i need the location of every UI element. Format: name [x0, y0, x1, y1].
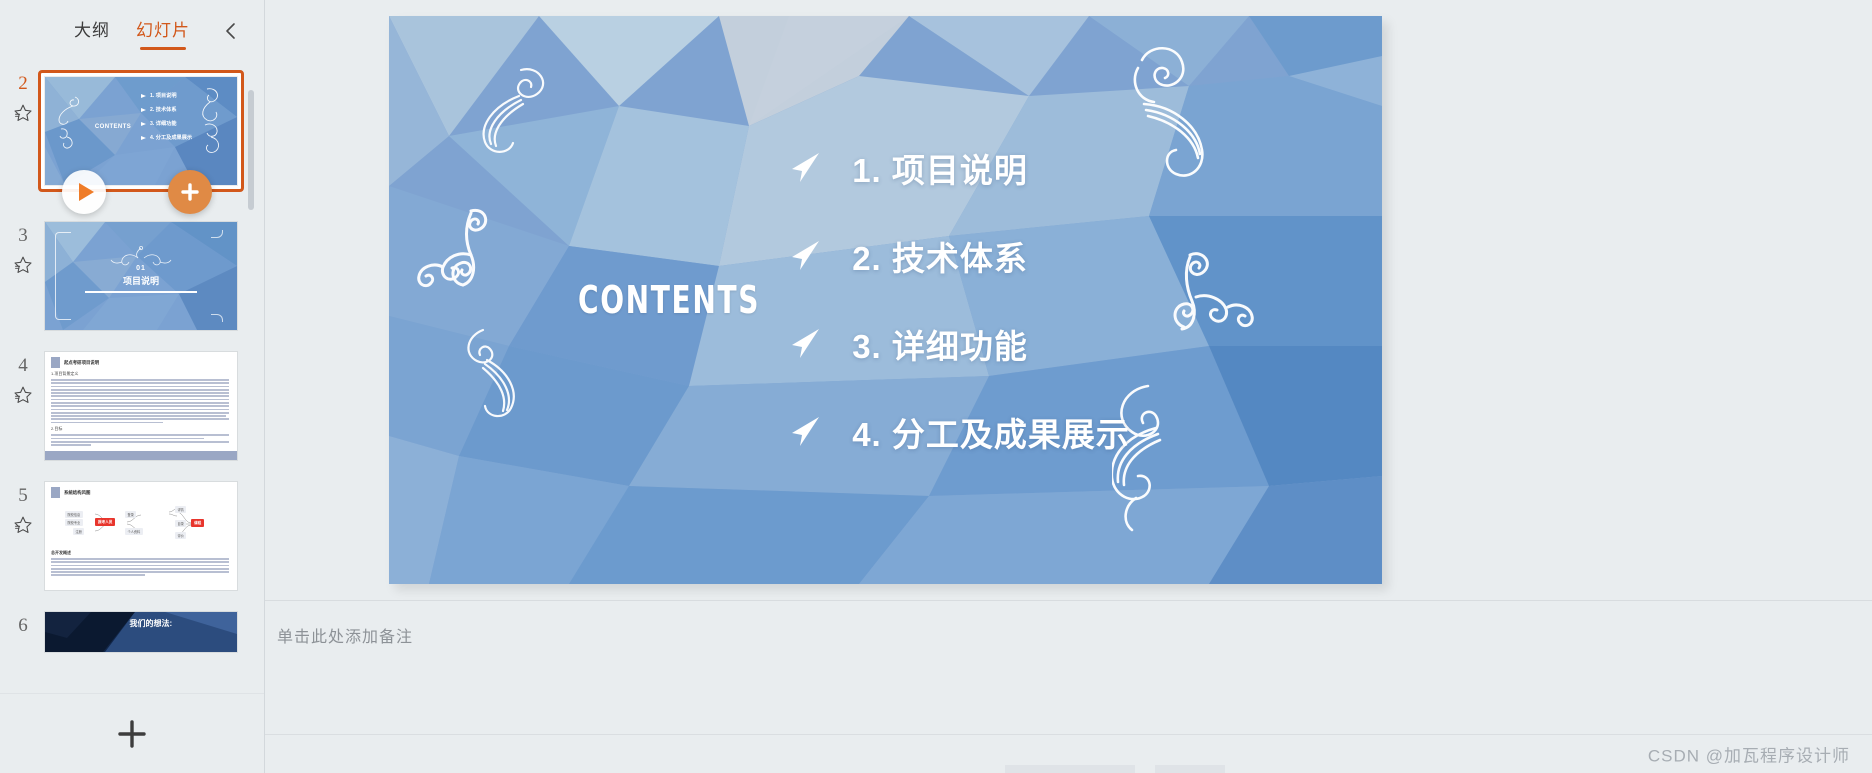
- slide-thumbnail-panel: 大纲 幻灯片 2: [0, 0, 265, 773]
- plus-icon: [114, 716, 150, 752]
- contents-item-2-text: 技术体系: [892, 240, 1028, 277]
- thumbnail-slide-6[interactable]: 6 我们的想法:: [0, 612, 264, 652]
- dark-slide-label: 我们的想法:: [129, 618, 172, 629]
- arrow-marker-icon: [141, 108, 146, 112]
- mindmap-leaf: 院校信息: [65, 511, 83, 518]
- doc-title: 起点考研项目说明: [64, 360, 99, 366]
- thumbnail-image: 起点考研项目说明 1.项目背景定义 2.目标: [45, 352, 237, 460]
- thumbnail-scroll-area[interactable]: 2: [0, 62, 264, 693]
- title-accent-block: [51, 487, 60, 498]
- star-icon[interactable]: [13, 385, 33, 405]
- contents-item-4[interactable]: 4. 分工及成果展示: [786, 408, 1130, 456]
- slide-editor-area: CONTENTS 1. 项目说明 2. 技术体系: [265, 0, 1872, 773]
- status-segment: [1005, 765, 1135, 773]
- thumbnail-image: CONTENTS 1. 项目说明 2. 技术体系 3. 详细功能 4. 分工及成…: [45, 77, 237, 185]
- slide-canvas[interactable]: CONTENTS 1. 项目说明 2. 技术体系: [389, 16, 1382, 584]
- thumbnail-slide-2[interactable]: 2: [0, 70, 264, 192]
- thumbnail-meta: 2: [8, 70, 38, 123]
- contents-item-3-index: 3.: [852, 328, 882, 365]
- add-slide-button[interactable]: [112, 714, 152, 754]
- tab-slides-label: 幻灯片: [136, 21, 190, 40]
- thumbnail-meta: 3: [8, 222, 38, 275]
- arrow-marker-icon: [141, 122, 146, 126]
- insert-slide-button[interactable]: [168, 170, 212, 214]
- divider: [85, 291, 196, 293]
- thumbnail-meta: 5: [8, 482, 38, 535]
- doc-section-2: 2.目标: [51, 426, 231, 432]
- arrow-marker-icon: [786, 150, 822, 186]
- star-icon[interactable]: [13, 515, 33, 535]
- play-slideshow-button[interactable]: [62, 170, 106, 214]
- decorative-corner: [211, 314, 223, 322]
- mindmap-diagram: 报考人员 课程 院校信息 院校专业 注册 登录 个人资料 详情 目录 评价: [51, 502, 231, 548]
- mindmap-leaf: 个人资料: [125, 528, 143, 535]
- contents-item-2-index: 2.: [852, 240, 882, 277]
- thumbnail-meta: 6: [8, 612, 38, 645]
- status-bar: CSDN @加瓦程序设计师: [265, 734, 1872, 773]
- star-icon[interactable]: [13, 103, 33, 123]
- thumb-contents-label: CONTENTS: [95, 124, 131, 130]
- thumbnail-image: 系统结构风图: [45, 482, 237, 590]
- doc-footer-band: [45, 451, 237, 460]
- document-slide-preview: 起点考研项目说明 1.项目背景定义 2.目标: [45, 352, 237, 460]
- thumbnail-slide-4[interactable]: 4 起点考研项目说明 1.项目背景定义: [0, 352, 264, 460]
- slide-number: 4: [18, 356, 28, 375]
- mindmap-node: 课程: [191, 519, 204, 527]
- watermark-text: CSDN @加瓦程序设计师: [1648, 742, 1850, 767]
- arrow-marker-icon: [141, 136, 146, 140]
- thumbnail-scrollbar[interactable]: [248, 90, 254, 210]
- doc-title-row: 系统结构风图: [51, 487, 231, 498]
- mindmap-leaf: 详情: [175, 506, 186, 513]
- ornament-left-icon: [51, 93, 85, 159]
- panel-tabs: 大纲 幻灯片: [0, 0, 264, 62]
- mindmap-leaf: 注册: [73, 528, 84, 535]
- thumb-item-3: 3. 详细功能: [150, 120, 177, 127]
- mindmap-leaf: 院校专业: [65, 519, 83, 526]
- slide-number: 5: [18, 486, 28, 505]
- title-accent-block: [51, 357, 60, 368]
- thumb-item-4: 4. 分工及成果展示: [150, 134, 192, 141]
- chevron-left-icon[interactable]: [220, 20, 242, 42]
- tab-slides[interactable]: 幻灯片: [136, 16, 190, 47]
- doc-body-lines: [51, 379, 231, 423]
- mindmap-leaf: 评价: [175, 532, 186, 539]
- star-icon[interactable]: [13, 255, 33, 275]
- thumbnail-image: 我们的想法:: [45, 612, 237, 652]
- doc-title-row: 起点考研项目说明: [51, 357, 231, 368]
- mindmap-node: 报考人员: [95, 518, 115, 526]
- thumbnail-slide-3[interactable]: 3: [0, 222, 264, 330]
- play-icon: [79, 183, 94, 201]
- slide-number: 3: [18, 226, 28, 245]
- thumbnail-meta: 4: [8, 352, 38, 405]
- slide-number: 2: [18, 74, 28, 93]
- plus-icon: [178, 180, 202, 204]
- presentation-editor: 大纲 幻灯片 2: [0, 0, 1872, 773]
- arrow-marker-icon: [786, 326, 822, 362]
- thumb-section-number: 01: [45, 265, 237, 272]
- contents-item-2[interactable]: 2. 技术体系: [786, 232, 1130, 280]
- thumbnail-image: 01 项目说明: [45, 222, 237, 330]
- contents-menu: 1. 项目说明 2. 技术体系 3. 详细功能: [786, 42, 1130, 558]
- mindmap-leaf: 登录: [125, 511, 136, 518]
- mindmap-leaf: 目录: [175, 520, 186, 527]
- thumb-section-block: 01 项目说明: [45, 265, 237, 293]
- doc-body-lines-2: [51, 434, 231, 446]
- thumb-item-1: 1. 项目说明: [150, 92, 177, 99]
- thumbnail-frame-selected[interactable]: CONTENTS 1. 项目说明 2. 技术体系 3. 详细功能 4. 分工及成…: [38, 70, 244, 192]
- slide-stage[interactable]: CONTENTS 1. 项目说明 2. 技术体系: [389, 16, 1382, 584]
- tab-outline[interactable]: 大纲: [74, 16, 110, 47]
- status-segment: [1155, 765, 1225, 773]
- contents-item-1[interactable]: 1. 项目说明: [786, 144, 1130, 192]
- mindmap-slide-preview: 系统结构风图: [45, 482, 237, 590]
- slide-number: 6: [18, 616, 28, 635]
- thumb-item-2: 2. 技术体系: [150, 106, 177, 113]
- contents-item-3-text: 详细功能: [892, 328, 1028, 365]
- ornament-right-icon: [193, 85, 233, 159]
- doc-body-lines: [51, 558, 231, 576]
- contents-item-4-index: 4.: [852, 416, 882, 453]
- contents-item-1-text: 项目说明: [892, 152, 1028, 189]
- thumb-contents-items: 1. 项目说明 2. 技术体系 3. 详细功能 4. 分工及成果展示: [141, 92, 192, 141]
- contents-item-1-index: 1.: [852, 152, 882, 189]
- doc-subtitle: 1.项目背景定义: [51, 371, 231, 377]
- thumb-section-title: 项目说明: [45, 274, 237, 287]
- arrow-marker-icon: [141, 94, 146, 98]
- tab-outline-label: 大纲: [74, 21, 110, 40]
- notes-pane[interactable]: 单击此处添加备注: [265, 600, 1872, 734]
- notes-placeholder: 单击此处添加备注: [277, 623, 1872, 647]
- doc-title: 系统结构风图: [64, 490, 90, 496]
- mindmap-caption: 总开发概述: [51, 550, 231, 556]
- arrow-marker-icon: [786, 414, 822, 450]
- thumbnail-slide-5[interactable]: 5 系统结构风图: [0, 482, 264, 590]
- contents-item-3[interactable]: 3. 详细功能: [786, 320, 1130, 368]
- contents-item-4-text: 分工及成果展示: [892, 416, 1130, 453]
- add-slide-bar: [0, 693, 264, 773]
- arrow-marker-icon: [786, 238, 822, 274]
- contents-heading: CONTENTS: [578, 278, 760, 322]
